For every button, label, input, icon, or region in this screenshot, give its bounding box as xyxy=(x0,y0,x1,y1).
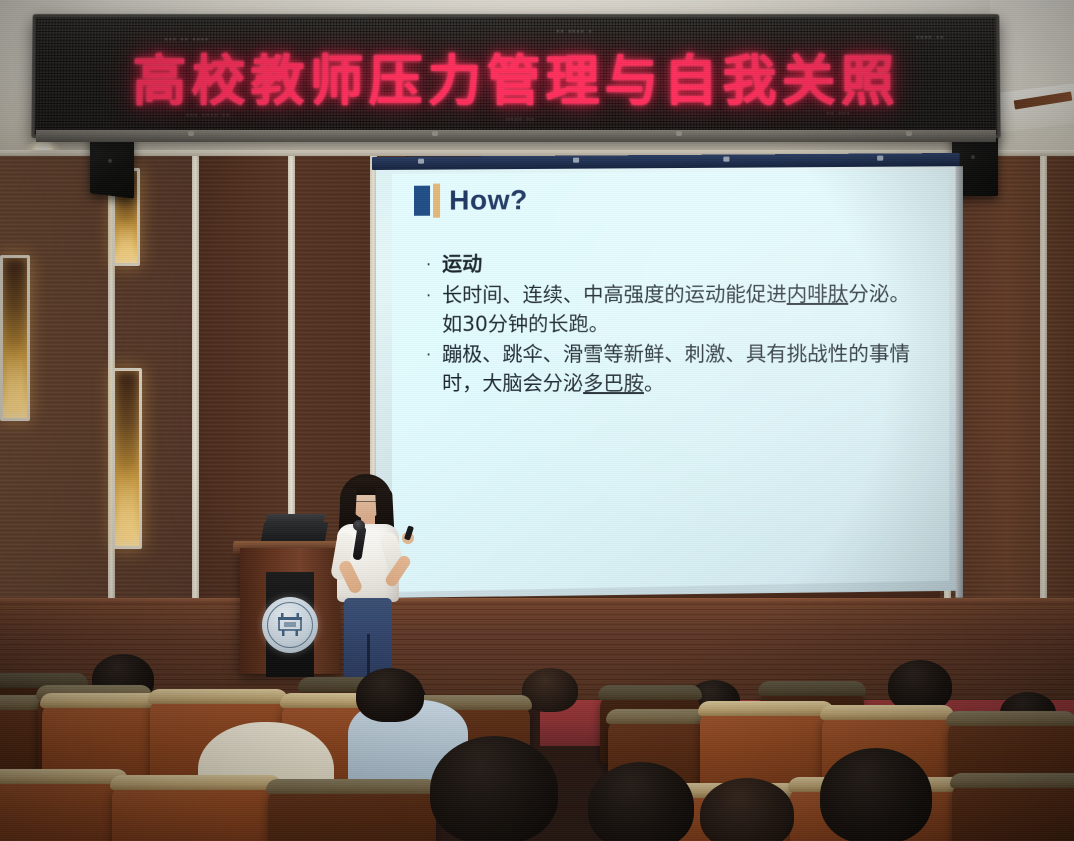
projection-screen: How? · 运动 · 长时间、连续、中高强度的运动能促进内啡肽分泌。如30分钟… xyxy=(372,153,960,616)
slide-bullet-item: · 运动 xyxy=(426,248,927,280)
bullet-text-underlined: 多巴胺 xyxy=(583,371,644,395)
audience-head xyxy=(588,762,694,841)
seat xyxy=(0,776,126,841)
bullet-text: 长时间、连续、中高强度的运动能促进内啡肽分泌。如30分钟的长跑。 xyxy=(442,279,926,339)
wall-trim xyxy=(192,150,199,620)
led-pixel-noise: ▪▪ ▪▪▪▪ ▪ xyxy=(556,26,592,36)
seat xyxy=(112,782,280,841)
seat xyxy=(952,780,1074,841)
lecture-hall-photo: ▪▪▪ ▪▪ ▪▪▪▪ ▪▪ ▪▪▪▪ ▪ ▪▪▪▪ ▪▪ ▫▫▫ ▫▫▫▫ ▫… xyxy=(0,0,1074,841)
audience-head xyxy=(430,736,558,841)
audience-head xyxy=(356,668,424,722)
slide-title: How? xyxy=(449,184,528,217)
audience-head xyxy=(820,748,932,841)
bullet-text-pre: 长时间、连续、中高强度的运动能促进 xyxy=(442,282,787,307)
led-banner-text: 高校教师压力管理与自我关照 xyxy=(36,37,997,116)
wall-trim xyxy=(1040,150,1047,670)
led-banner-mount-rail xyxy=(36,130,996,142)
bullet-text-post: 。 xyxy=(644,371,664,395)
seat xyxy=(268,786,436,841)
bullet-marker-icon: · xyxy=(426,281,442,311)
led-banner: ▪▪▪ ▪▪ ▪▪▪▪ ▪▪ ▪▪▪▪ ▪ ▪▪▪▪ ▪▪ ▫▫▫ ▫▫▫▫ ▫… xyxy=(31,14,1000,138)
audience-head xyxy=(700,778,794,841)
led-banner-panel: ▪▪▪ ▪▪ ▪▪▪▪ ▪▪ ▪▪▪▪ ▪ ▪▪▪▪ ▪▪ ▫▫▫ ▫▫▫▫ ▫… xyxy=(35,18,996,134)
screen-surface: How? · 运动 · 长时间、连续、中高强度的运动能促进内啡肽分泌。如30分钟… xyxy=(376,166,956,601)
title-accent-bar-icon xyxy=(433,184,440,218)
microphone-head xyxy=(353,520,365,531)
audience-seating xyxy=(0,640,1074,841)
bullet-text: 蹦极、跳伞、滑雪等新鲜、刺激、具有挑战性的事情时，大脑会分泌多巴胺。 xyxy=(442,339,926,398)
wall-trim xyxy=(288,150,295,550)
presentation-slide: How? · 运动 · 长时间、连续、中高强度的运动能促进内啡肽分泌。如30分钟… xyxy=(392,170,949,595)
mount-bolt xyxy=(676,131,682,136)
wall-light-niche xyxy=(112,368,142,549)
slide-title-block: How? xyxy=(414,183,528,218)
bullet-text: 运动 xyxy=(442,250,482,279)
slide-bullet-item: · 长时间、连续、中高强度的运动能促进内啡肽分泌。如30分钟的长跑。 xyxy=(426,279,927,339)
title-accent-square-icon xyxy=(414,186,430,216)
slide-bullet-item: · 蹦极、跳伞、滑雪等新鲜、刺激、具有挑战性的事情时，大脑会分泌多巴胺。 xyxy=(426,339,927,398)
mount-bolt xyxy=(906,131,912,136)
bullet-marker-icon: · xyxy=(426,250,442,280)
seal-vessel-icon xyxy=(276,613,304,637)
bullet-text-pre: 蹦极、跳伞、滑雪等新鲜、刺激、具有挑战性的事情时，大脑会分泌 xyxy=(442,341,910,395)
mount-bolt xyxy=(432,131,438,136)
bullet-marker-icon: · xyxy=(426,340,442,370)
wall-light-niche xyxy=(0,255,30,421)
slide-bullet-list: · 运动 · 长时间、连续、中高强度的运动能促进内啡肽分泌。如30分钟的长跑。 … xyxy=(426,248,927,399)
screen-side-edge xyxy=(956,166,963,597)
bullet-text-underlined: 内啡肽 xyxy=(787,282,849,306)
mount-bolt xyxy=(188,131,194,136)
